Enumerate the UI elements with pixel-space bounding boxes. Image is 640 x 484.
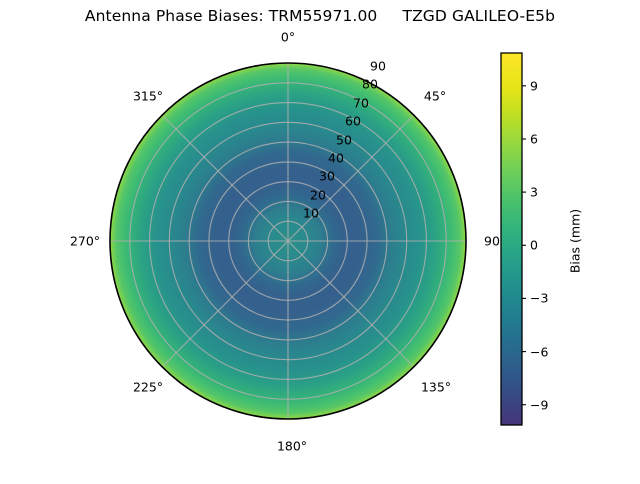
colorbar-tick-label-neg3: −3 bbox=[530, 291, 548, 306]
colorbar-tick-label-0: 0 bbox=[530, 238, 538, 253]
figure-canvas: Antenna Phase Biases: TRM55971.00 TZGD G… bbox=[0, 0, 640, 480]
colorbar-tick-label-3: 3 bbox=[530, 185, 538, 200]
colorbar-gradient bbox=[501, 53, 522, 425]
colorbar-tick-label-9: 9 bbox=[530, 78, 538, 93]
colorbar-tick-label-neg9: −9 bbox=[530, 397, 548, 412]
colorbar-title: Bias (mm) bbox=[568, 209, 583, 273]
colorbar-tick-label-neg6: −6 bbox=[530, 344, 548, 359]
colorbar-tick-label-6: 6 bbox=[530, 132, 538, 147]
